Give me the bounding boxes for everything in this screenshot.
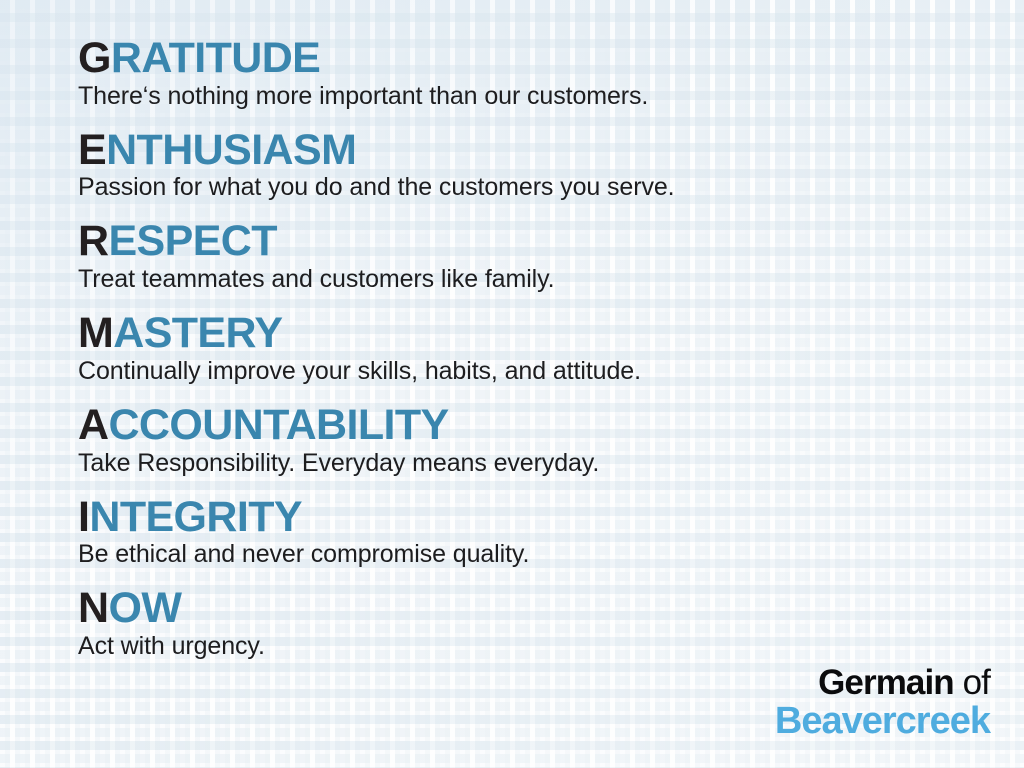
dealership-logo: Germain of Beavercreek (775, 665, 990, 740)
value-block-mastery: MASTERY Continually improve your skills,… (78, 311, 958, 386)
value-block-accountability: ACCOUNTABILITY Take Responsibility. Ever… (78, 403, 958, 478)
value-initial: M (78, 309, 113, 357)
core-values-list: GRATITUDE There‘s nothing more important… (78, 36, 958, 661)
value-word-gratitude: GRATITUDE (78, 36, 958, 81)
value-description-accountability: Take Responsibility. Everyday means ever… (78, 449, 958, 478)
value-description-gratitude: There‘s nothing more important than our … (78, 82, 958, 111)
value-initial: R (78, 217, 108, 265)
value-word-remainder: NTHUSIASM (106, 126, 356, 174)
value-word-remainder: ESPECT (108, 217, 276, 265)
value-word-mastery: MASTERY (78, 311, 958, 356)
logo-brand-name: Germain (818, 663, 954, 702)
value-word-remainder: ASTERY (113, 309, 282, 357)
value-block-integrity: INTEGRITY Be ethical and never compromis… (78, 495, 958, 570)
value-word-accountability: ACCOUNTABILITY (78, 403, 958, 448)
value-block-gratitude: GRATITUDE There‘s nothing more important… (78, 36, 958, 111)
value-block-now: NOW Act with urgency. (78, 586, 958, 661)
logo-connector: of (963, 663, 990, 702)
value-initial: A (78, 401, 108, 449)
value-word-remainder: RATITUDE (111, 34, 320, 82)
value-word-now: NOW (78, 586, 958, 631)
value-description-enthusiasm: Passion for what you do and the customer… (78, 173, 958, 202)
value-description-now: Act with urgency. (78, 632, 958, 661)
value-block-respect: RESPECT Treat teammates and customers li… (78, 219, 958, 294)
value-word-enthusiasm: ENTHUSIASM (78, 128, 958, 173)
value-initial: N (78, 584, 108, 632)
value-word-remainder: CCOUNTABILITY (108, 401, 448, 449)
value-word-remainder: OW (108, 584, 181, 632)
value-description-respect: Treat teammates and customers like famil… (78, 265, 958, 294)
value-initial: G (78, 34, 111, 82)
value-initial: I (78, 493, 89, 541)
value-word-integrity: INTEGRITY (78, 495, 958, 540)
value-initial: E (78, 126, 106, 174)
logo-location: Beavercreek (775, 702, 990, 740)
values-poster: GRATITUDE There‘s nothing more important… (0, 0, 1024, 768)
value-description-mastery: Continually improve your skills, habits,… (78, 357, 958, 386)
value-description-integrity: Be ethical and never compromise quality. (78, 540, 958, 569)
logo-primary-line: Germain of (775, 665, 990, 700)
value-word-respect: RESPECT (78, 219, 958, 264)
value-block-enthusiasm: ENTHUSIASM Passion for what you do and t… (78, 128, 958, 203)
value-word-remainder: NTEGRITY (89, 493, 302, 541)
